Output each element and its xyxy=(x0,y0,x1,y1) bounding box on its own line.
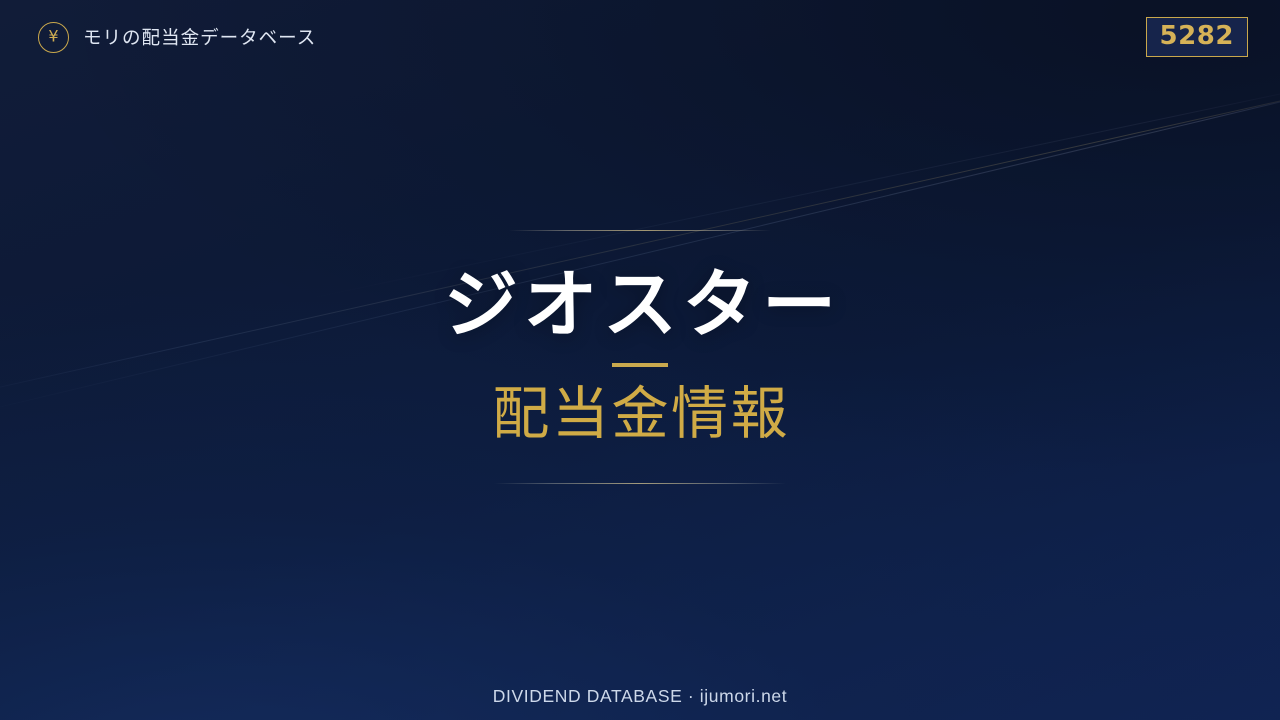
hero-bottom-rule xyxy=(494,483,786,484)
yen-circle-icon: ¥ xyxy=(38,22,69,53)
page-subtitle: 配当金情報 xyxy=(490,383,790,447)
hero-block: ジオスター 配当金情報 xyxy=(0,0,1280,720)
brand-logo[interactable]: ¥ モリの配当金データベース xyxy=(38,22,316,53)
yen-glyph: ¥ xyxy=(48,29,58,45)
brand-name-label: モリの配当金データベース xyxy=(83,24,316,50)
hero-top-rule xyxy=(509,230,771,231)
company-name-title: ジオスター xyxy=(438,265,841,345)
gold-divider xyxy=(612,363,668,367)
title-card: ¥ モリの配当金データベース 5282 ジオスター 配当金情報 DIVIDEND… xyxy=(0,0,1280,720)
top-bar: ¥ モリの配当金データベース 5282 xyxy=(0,0,1280,74)
ticker-code-badge: 5282 xyxy=(1146,17,1248,57)
footer-label: DIVIDEND DATABASE · ijumori.net xyxy=(0,686,1280,707)
footer: DIVIDEND DATABASE · ijumori.net xyxy=(0,686,1280,707)
